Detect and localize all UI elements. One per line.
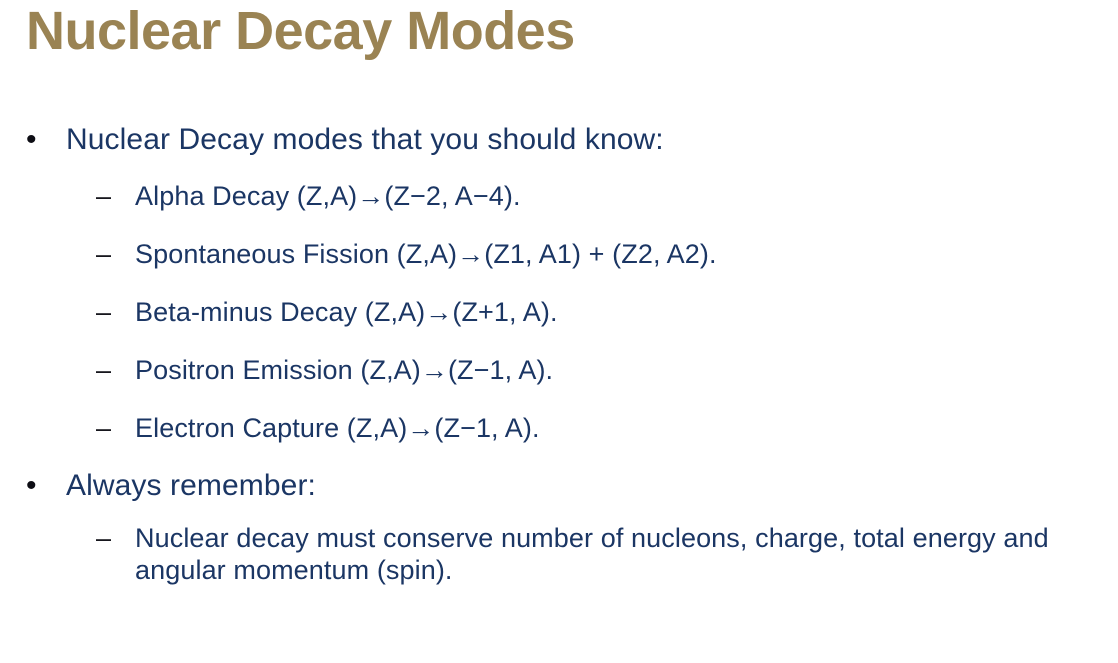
dash-icon: –: [96, 408, 135, 448]
sub-bullet-text: Electron Capture (Z,A)→(Z−1, A).: [135, 408, 1118, 448]
sub-bullet-item: – Alpha Decay (Z,A)→(Z−2, A−4).: [0, 176, 1118, 216]
slide: Nuclear Decay Modes • Nuclear Decay mode…: [0, 0, 1118, 663]
dash-icon: –: [96, 292, 135, 332]
dash-icon: –: [96, 350, 135, 390]
sub-bullet-text: Alpha Decay (Z,A)→(Z−2, A−4).: [135, 176, 1118, 216]
sub-bullet-text: Positron Emission (Z,A)→(Z−1, A).: [135, 350, 1118, 390]
bullet-text: Nuclear Decay modes that you should know…: [66, 118, 1118, 162]
bullet-item: • Nuclear Decay modes that you should kn…: [0, 118, 1118, 162]
dash-icon: –: [96, 234, 135, 274]
sub-bullet-item: – Electron Capture (Z,A)→(Z−1, A).: [0, 408, 1118, 448]
sub-bullet-item: – Beta-minus Decay (Z,A)→(Z+1, A).: [0, 292, 1118, 332]
sub-bullet-text: Beta-minus Decay (Z,A)→(Z+1, A).: [135, 292, 1118, 332]
bullet-item: • Always remember:: [0, 464, 1118, 508]
bullet-dot-icon: •: [22, 464, 66, 508]
sub-bullet-item: – Nuclear decay must conserve number of …: [0, 518, 1118, 586]
sub-bullet-text: Nuclear decay must conserve number of nu…: [135, 518, 1118, 586]
dash-icon: –: [96, 176, 135, 216]
body-content: • Nuclear Decay modes that you should kn…: [0, 118, 1118, 586]
sub-bullet-item: – Spontaneous Fission (Z,A)→(Z1, A1) + (…: [0, 234, 1118, 274]
slide-title: Nuclear Decay Modes: [26, 2, 575, 60]
sub-bullet-item: – Positron Emission (Z,A)→(Z−1, A).: [0, 350, 1118, 390]
sub-bullet-text: Spontaneous Fission (Z,A)→(Z1, A1) + (Z2…: [135, 234, 1118, 274]
bullet-dot-icon: •: [22, 118, 66, 162]
dash-icon: –: [96, 518, 135, 558]
bullet-text: Always remember:: [66, 464, 1118, 508]
